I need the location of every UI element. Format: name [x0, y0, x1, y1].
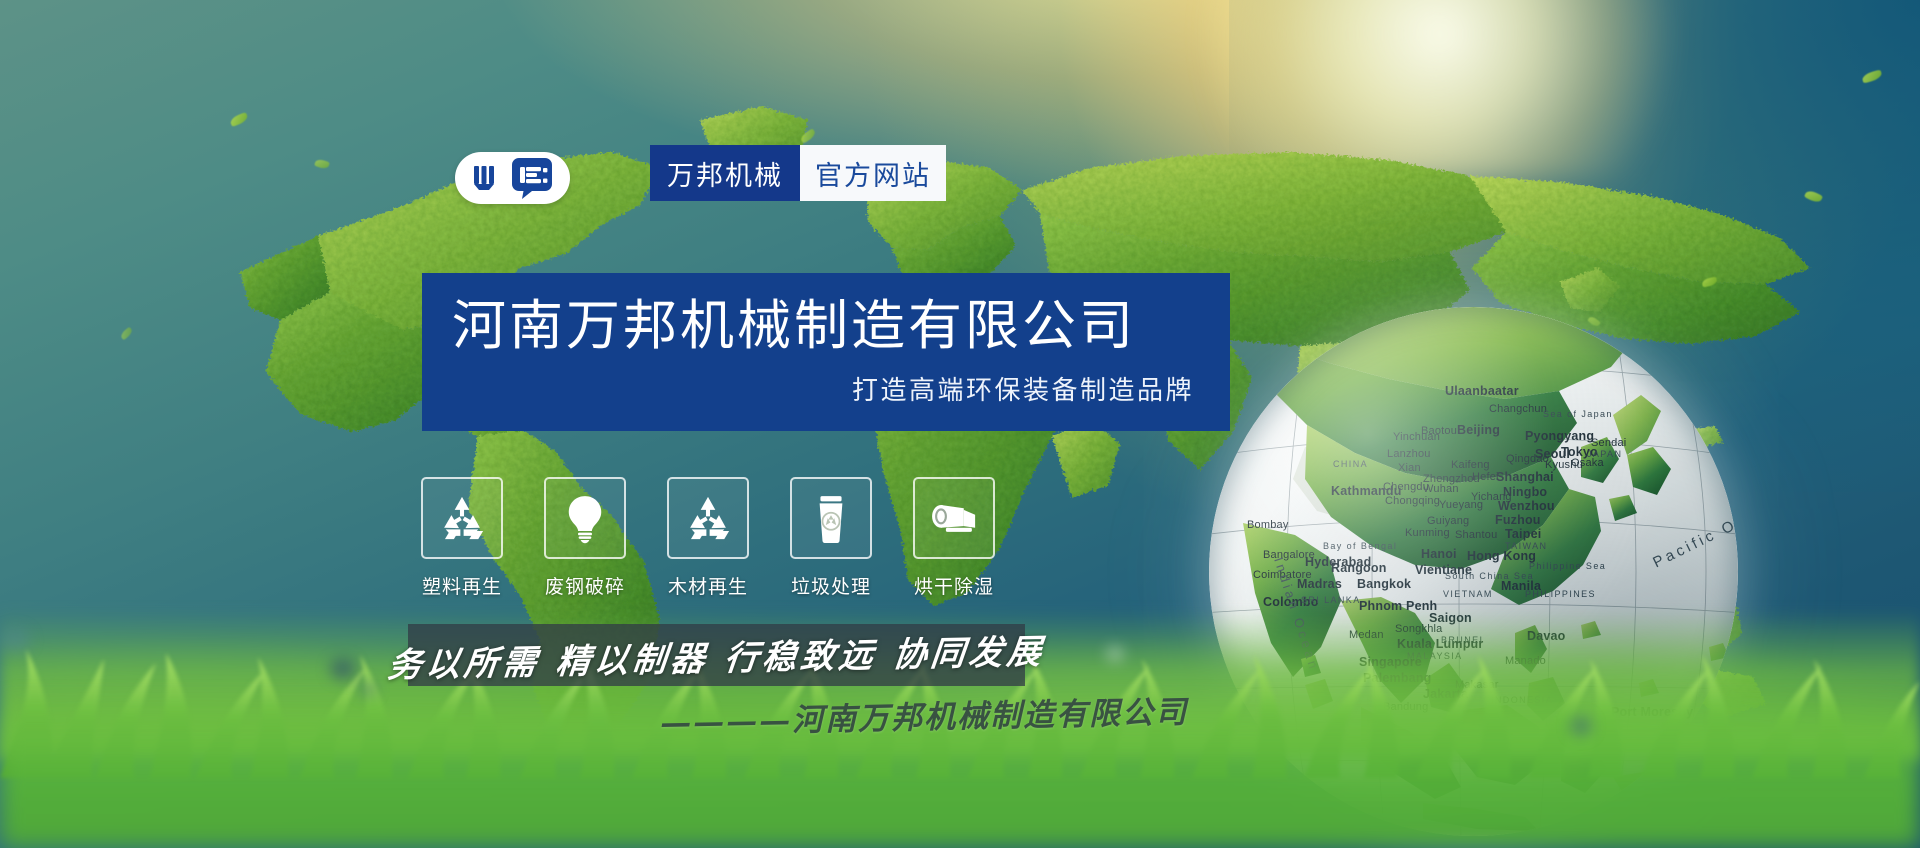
page-title: 河南万邦机械制造有限公司 — [452, 297, 1194, 355]
recycle-icon — [682, 492, 734, 544]
lightbulb-icon — [559, 492, 611, 544]
feature-icon-box[interactable] — [421, 477, 503, 559]
bokeh-dot — [1570, 716, 1592, 736]
feature-label: 塑料再生 — [422, 572, 502, 599]
feature-label: 烘干除湿 — [914, 572, 994, 599]
feature-item-wood-recycling[interactable]: 木材再生 — [667, 477, 749, 599]
wanbang-logo-badge[interactable] — [455, 152, 570, 204]
logo-b-icon — [510, 156, 554, 200]
feature-label: 垃圾处理 — [791, 572, 871, 599]
feature-item-drying-dehumidifying[interactable]: 烘干除湿 — [913, 477, 995, 599]
bokeh-dot — [360, 682, 376, 696]
feature-label: 废钢破碎 — [545, 572, 625, 599]
nav-tab-official-site[interactable]: 官方网站 — [800, 145, 946, 201]
hero-headline-panel: 河南万邦机械制造有限公司 打造高端环保装备制造品牌 — [422, 273, 1230, 431]
trash-bin-icon — [805, 492, 857, 544]
dryer-drum-icon — [928, 492, 980, 544]
nav-tab-brand[interactable]: 万邦机械 — [650, 145, 800, 201]
slogan-text: 务以所需 精以制器 行稳致远 协同发展 — [385, 624, 1047, 687]
feature-item-plastic-recycling[interactable]: 塑料再生 — [421, 477, 503, 599]
hero-banner: Ulaanbaatar Beijing Baotou Changchun Pyo… — [0, 0, 1920, 848]
feature-item-scrap-steel-crushing[interactable]: 废钢破碎 — [544, 477, 626, 599]
feature-label: 木材再生 — [668, 572, 748, 599]
feature-icon-row: 塑料再生 废钢破碎 — [421, 477, 995, 599]
bokeh-dot — [1106, 646, 1124, 662]
feature-icon-box[interactable] — [667, 477, 749, 559]
feature-icon-box[interactable] — [544, 477, 626, 559]
hero-subtitle: 打造高端环保装备制造品牌 — [452, 370, 1194, 407]
slogan-band: 务以所需 精以制器 行稳致远 协同发展 — [408, 624, 1025, 686]
feature-icon-box[interactable] — [913, 477, 995, 559]
logo-w-icon — [472, 163, 506, 193]
feature-icon-box[interactable] — [790, 477, 872, 559]
bokeh-dot — [0, 628, 30, 652]
recycle-icon — [436, 492, 488, 544]
bokeh-dot — [330, 658, 356, 680]
nav-tabs[interactable]: 万邦机械 官方网站 — [650, 145, 946, 201]
feature-item-waste-treatment[interactable]: 垃圾处理 — [790, 477, 872, 599]
